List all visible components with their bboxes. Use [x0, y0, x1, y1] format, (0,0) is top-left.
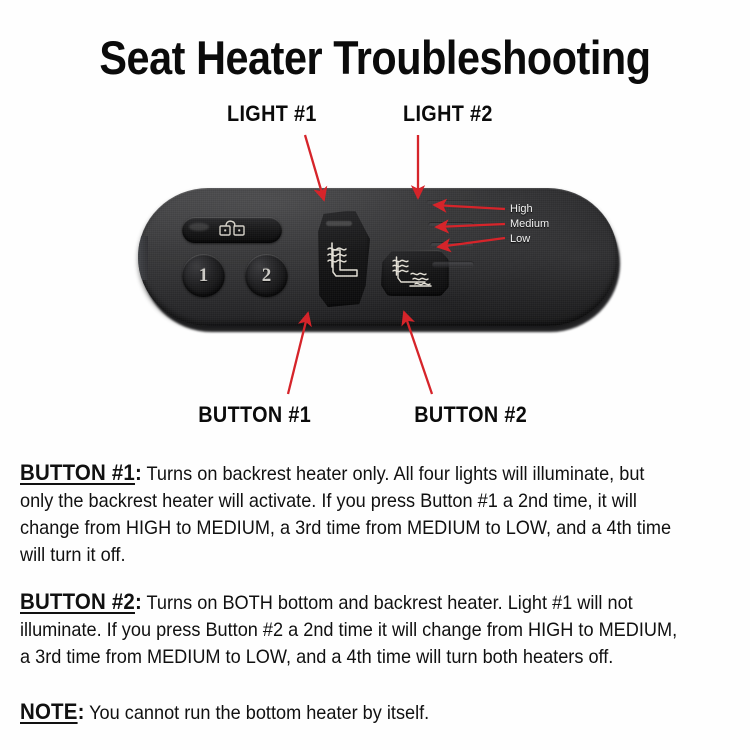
- callout-label-button-2: BUTTON #2: [414, 402, 527, 428]
- seat-control-panel: 1 2: [136, 186, 624, 336]
- seat-memory-icon: [182, 217, 282, 243]
- backrest-heater-button-highlight: [326, 221, 352, 226]
- led-indicator-low: [432, 261, 474, 267]
- led-label-high: High: [510, 203, 533, 215]
- led-label-low: Low: [510, 233, 530, 245]
- callout-label-light-1: LIGHT #1: [227, 101, 317, 127]
- instruction-3-text: You cannot run the bottom heater by itse…: [84, 702, 429, 724]
- callout-label-button-1: BUTTON #1: [198, 402, 311, 428]
- instruction-paragraph-1: BUTTON #1: Turns on backrest heater only…: [20, 459, 682, 569]
- instruction-2-colon: :: [135, 589, 142, 614]
- led-indicator-0: [426, 200, 474, 206]
- memory-preset-2-button[interactable]: 2: [245, 254, 288, 297]
- callout-label-light-2: LIGHT #2: [403, 101, 493, 127]
- panel-body: 1 2: [138, 188, 618, 326]
- seat-and-backrest-heater-icon: [381, 250, 449, 296]
- page-title: Seat Heater Troubleshooting: [45, 30, 705, 85]
- page-root: Seat Heater Troubleshooting LIGHT #1 LIG…: [0, 0, 750, 750]
- seat-memory-button[interactable]: [182, 217, 282, 243]
- memory-preset-1-button[interactable]: 1: [182, 254, 225, 297]
- instruction-3-lead: NOTE: [20, 699, 78, 724]
- instruction-1-colon: :: [135, 460, 142, 485]
- led-indicator-medium: [430, 242, 474, 248]
- seat-and-backrest-heater-button[interactable]: [381, 250, 449, 296]
- memory-preset-1-label: 1: [199, 265, 209, 287]
- instruction-1-lead: BUTTON #1: [20, 460, 135, 485]
- panel-mounting-tab: [138, 236, 148, 280]
- led-label-medium: Medium: [510, 218, 549, 230]
- backrest-heater-button-face: [316, 210, 370, 307]
- backrest-heater-icon: [316, 210, 370, 307]
- instruction-paragraph-2: BUTTON #2: Turns on BOTH bottom and back…: [20, 588, 682, 671]
- instruction-2-lead: BUTTON #2: [20, 589, 135, 614]
- instruction-paragraph-3: NOTE: You cannot run the bottom heater b…: [20, 698, 682, 727]
- memory-preset-2-label: 2: [262, 265, 272, 287]
- seat-heater-button-face: [381, 250, 449, 296]
- backrest-heater-button[interactable]: [316, 210, 370, 307]
- led-indicator-high: [428, 222, 474, 228]
